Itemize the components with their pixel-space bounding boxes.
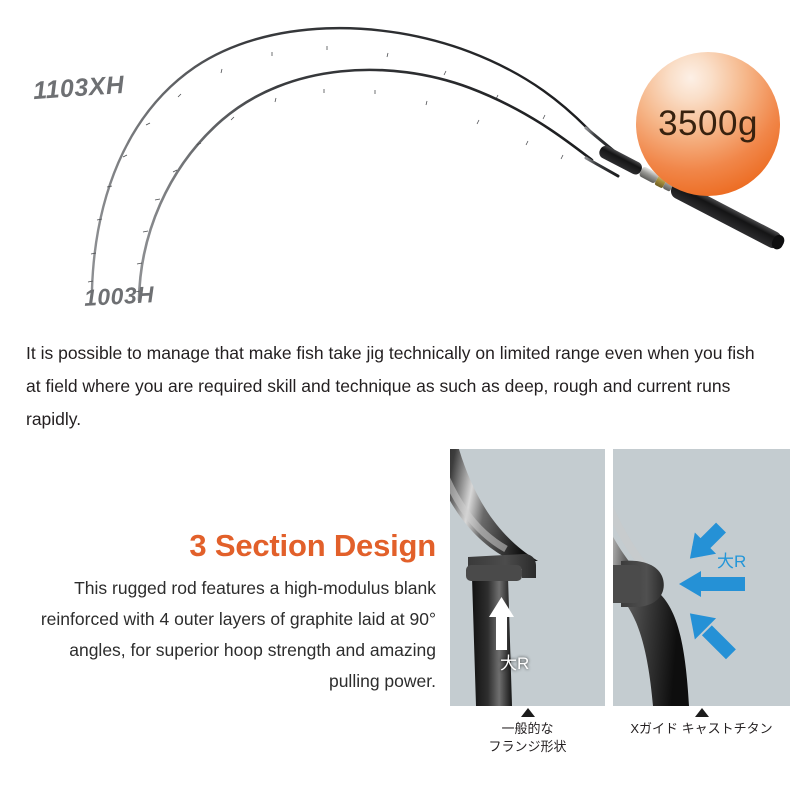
panel-conventional-flange: 大R	[450, 449, 605, 706]
caption-conventional: 一般的な フランジ形状	[450, 708, 605, 756]
caret-up-icon	[521, 708, 535, 717]
caption-conventional-text: 一般的な フランジ形状	[450, 720, 605, 756]
intro-paragraph: It is possible to manage that make fish …	[26, 337, 770, 436]
caption-xguide: Xガイド キャストチタン	[613, 708, 790, 738]
intro-paragraph-block: It is possible to manage that make fish …	[26, 337, 770, 436]
panel-annotation-left: 大R	[500, 649, 529, 674]
hero-rod-illustration: 1103XH 1003H 3500g	[0, 0, 800, 330]
rod-label-1003h: 1003H	[83, 281, 155, 312]
xguide-photo	[613, 449, 790, 706]
weight-badge: 3500g	[636, 52, 780, 196]
caption-xguide-text: Xガイド キャストチタン	[613, 720, 790, 738]
panel-annotation-right: 大R	[717, 547, 746, 572]
feature-heading: 3 Section Design	[18, 528, 436, 564]
rod-blank-lower	[135, 70, 592, 300]
panel-xguide-cast-titanium: 大R	[613, 449, 790, 706]
caret-up-icon	[695, 708, 709, 717]
guide-comparison-panels: 大R	[450, 449, 790, 706]
panel-captions: 一般的な フランジ形状 Xガイド キャストチタン	[450, 708, 790, 780]
product-feature-page: 1103XH 1003H 3500g It is possible to man…	[0, 0, 800, 800]
weight-badge-value: 3500g	[658, 104, 758, 144]
rod-blank-upper	[88, 28, 592, 289]
feature-copy-block: 3 Section Design This rugged rod feature…	[18, 528, 436, 697]
feature-body: This rugged rod features a high-modulus …	[18, 573, 436, 697]
